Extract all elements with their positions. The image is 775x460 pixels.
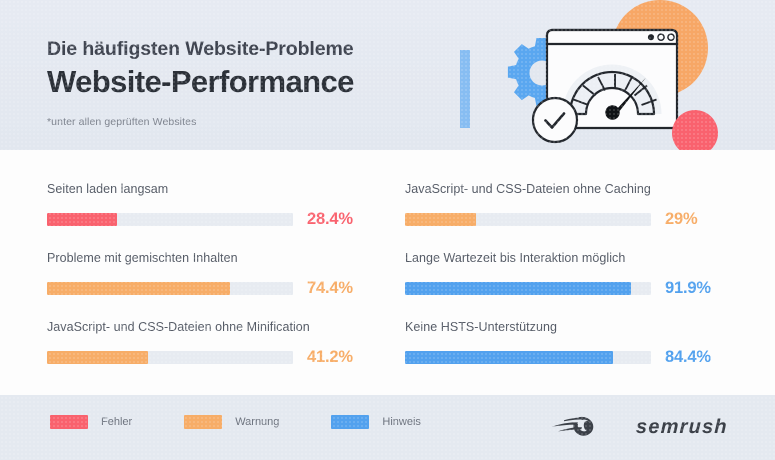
brand-lockup: semrush [552, 413, 728, 442]
brand-name: semrush [636, 416, 729, 439]
stat-value: 28.4% [307, 210, 353, 229]
legend-item: Fehler [50, 415, 132, 429]
stat-label: Seiten laden langsam [47, 182, 387, 197]
stat-value: 74.4% [307, 279, 353, 298]
stat-value: 41.2% [307, 348, 353, 367]
header-note: *unter allen geprüften Websites [47, 116, 354, 128]
stat-label: Probleme mit gemischten Inhalten [47, 251, 387, 266]
bar-fill [405, 282, 631, 295]
decor-circle-red [672, 110, 718, 150]
legend-label: Hinweis [382, 416, 421, 428]
stat-item: JavaScript- und CSS-Dateien ohne Minific… [47, 320, 387, 388]
bar-fill [47, 282, 230, 295]
bar-fill [405, 351, 613, 364]
stat-bar-row: 74.4% [47, 279, 387, 298]
bar-fill [405, 213, 476, 226]
legend-label: Warnung [235, 416, 279, 428]
bar-track [47, 213, 293, 226]
stat-label: JavaScript- und CSS-Dateien ohne Caching [405, 182, 745, 197]
stat-value: 91.9% [665, 279, 711, 298]
legend-swatch [331, 415, 369, 429]
stat-value: 84.4% [665, 348, 711, 367]
stat-item: Keine HSTS-Unterstützung 84.4% [405, 320, 745, 388]
bar-track [405, 213, 651, 226]
semrush-comet-logo-icon [552, 413, 626, 442]
stats-panel: Seiten laden langsam 28.4% Probleme mit … [0, 150, 775, 395]
stat-label: Lange Wartezeit bis Interaktion möglich [405, 251, 745, 266]
stat-bar-row: 41.2% [47, 348, 387, 367]
check-circle-icon [533, 98, 577, 142]
stat-bar-row: 28.4% [47, 210, 387, 229]
bar-track [47, 282, 293, 295]
stat-item: Probleme mit gemischten Inhalten 74.4% [47, 251, 387, 319]
header-text-block: Die häufigsten Website-Probleme Website-… [47, 38, 354, 128]
bar-track [47, 351, 293, 364]
legend-item: Hinweis [331, 415, 421, 429]
stat-label: Keine HSTS-Unterstützung [405, 320, 745, 335]
stat-item: JavaScript- und CSS-Dateien ohne Caching… [405, 182, 745, 250]
stat-bar-row: 29% [405, 210, 745, 229]
bar-fill [47, 351, 148, 364]
stat-label: JavaScript- und CSS-Dateien ohne Minific… [47, 320, 387, 335]
footer-band: Fehler Warnung Hinweis [0, 395, 775, 460]
legend-label: Fehler [101, 416, 132, 428]
decor-shape-blue [460, 50, 470, 128]
stat-bar-row: 84.4% [405, 348, 745, 367]
stat-value: 29% [665, 210, 697, 229]
infographic-root: Die häufigsten Website-Probleme Website-… [0, 0, 775, 460]
legend-item: Warnung [184, 415, 279, 429]
page-title: Website-Performance [47, 63, 354, 102]
bar-track [405, 282, 651, 295]
header-band: Die häufigsten Website-Probleme Website-… [0, 0, 775, 150]
bar-track [405, 351, 651, 364]
legend: Fehler Warnung Hinweis [50, 415, 473, 429]
stat-item: Lange Wartezeit bis Interaktion möglich … [405, 251, 745, 319]
legend-swatch [50, 415, 88, 429]
header-eyebrow: Die häufigsten Website-Probleme [47, 38, 354, 60]
stat-bar-row: 91.9% [405, 279, 745, 298]
stat-item: Seiten laden langsam 28.4% [47, 182, 387, 250]
stats-columns: Seiten laden langsam 28.4% Probleme mit … [0, 150, 775, 395]
bar-fill [47, 213, 117, 226]
hero-illustration [460, 0, 775, 150]
legend-swatch [184, 415, 222, 429]
